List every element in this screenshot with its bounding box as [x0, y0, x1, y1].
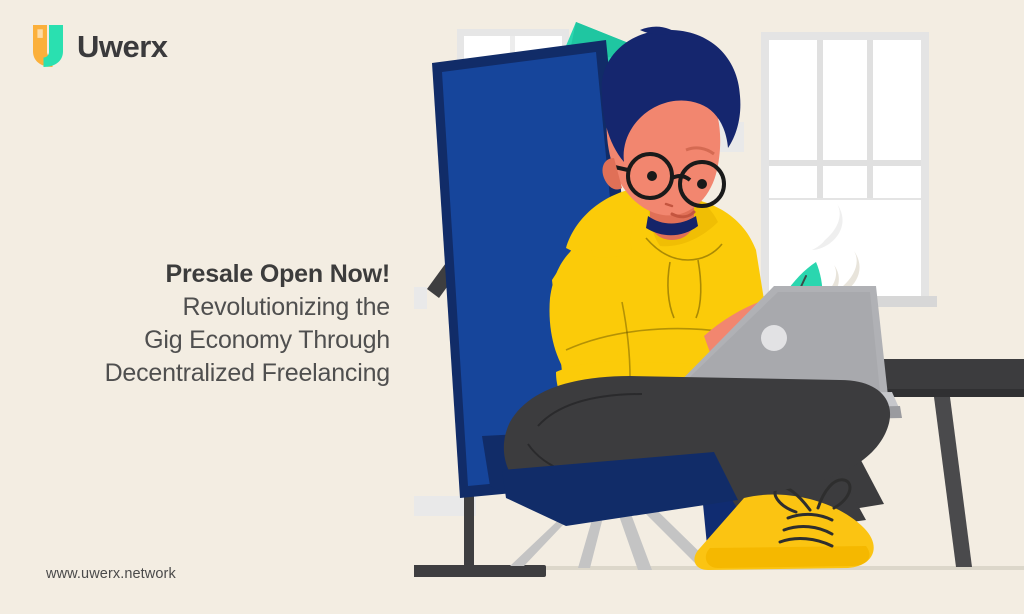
website-url[interactable]: www.uwerx.network [46, 566, 176, 582]
brand-logo[interactable]: Uwerx [30, 25, 168, 67]
headline-line-1: Presale Open Now! [0, 258, 390, 291]
uwerx-u-logo-icon [30, 25, 66, 67]
sneaker-sole [706, 546, 870, 568]
uwerx-promo-banner: Uwerx Presale Open Now! Revolutionizing … [0, 0, 1024, 614]
eye-left [647, 171, 657, 181]
lamp-base [414, 565, 546, 577]
wall-panel-decor-mid [414, 287, 427, 309]
headline-line-3: Gig Economy Through [0, 324, 390, 357]
eye-right [697, 179, 707, 189]
laptop-logo-icon [761, 325, 787, 351]
freelancer-working-on-laptop-illustration [414, 0, 1024, 614]
headline-line-4: Decentralized Freelancing [0, 357, 390, 390]
headline-line-2: Revolutionizing the [0, 291, 390, 324]
brand-wordmark: Uwerx [77, 31, 168, 62]
headline-block: Presale Open Now! Revolutionizing the Gi… [0, 258, 390, 390]
window-right [755, 32, 937, 307]
